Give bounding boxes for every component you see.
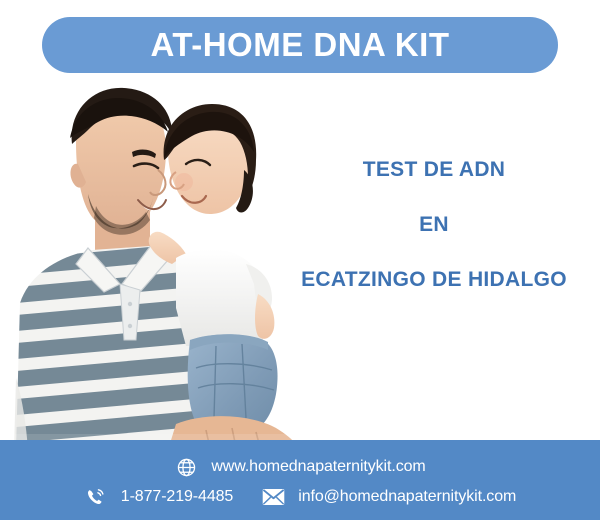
- phone-text: 1-877-219-4485: [121, 488, 233, 506]
- header-title: AT-HOME DNA KIT: [151, 26, 450, 64]
- phone-icon: [84, 486, 108, 508]
- email-text: info@homednapaternitykit.com: [298, 488, 516, 506]
- poster-canvas: AT-HOME DNA KIT: [0, 0, 600, 520]
- envelope-icon: [261, 486, 285, 508]
- headline-block: TEST DE ADN EN ECATZINGO DE HIDALGO: [268, 158, 600, 291]
- headline-line-1: TEST DE ADN: [268, 158, 600, 181]
- footer-website-item[interactable]: www.homednapaternitykit.com: [174, 456, 425, 478]
- header-pill-banner: AT-HOME DNA KIT: [42, 17, 558, 73]
- headline-line-3: ECATZINGO DE HIDALGO: [268, 268, 600, 291]
- footer-email-item[interactable]: info@homednapaternitykit.com: [261, 486, 516, 508]
- website-text: www.homednapaternitykit.com: [211, 458, 425, 476]
- headline-line-2: EN: [268, 213, 600, 236]
- globe-icon: [174, 456, 198, 478]
- footer-row-website: www.homednapaternitykit.com: [174, 453, 425, 481]
- footer-contact-bar: www.homednapaternitykit.com 1-877-219-44…: [0, 440, 600, 520]
- footer-row-phone-email: 1-877-219-4485 info@homednapaternitykit.…: [84, 483, 516, 511]
- footer-phone-item[interactable]: 1-877-219-4485: [84, 486, 233, 508]
